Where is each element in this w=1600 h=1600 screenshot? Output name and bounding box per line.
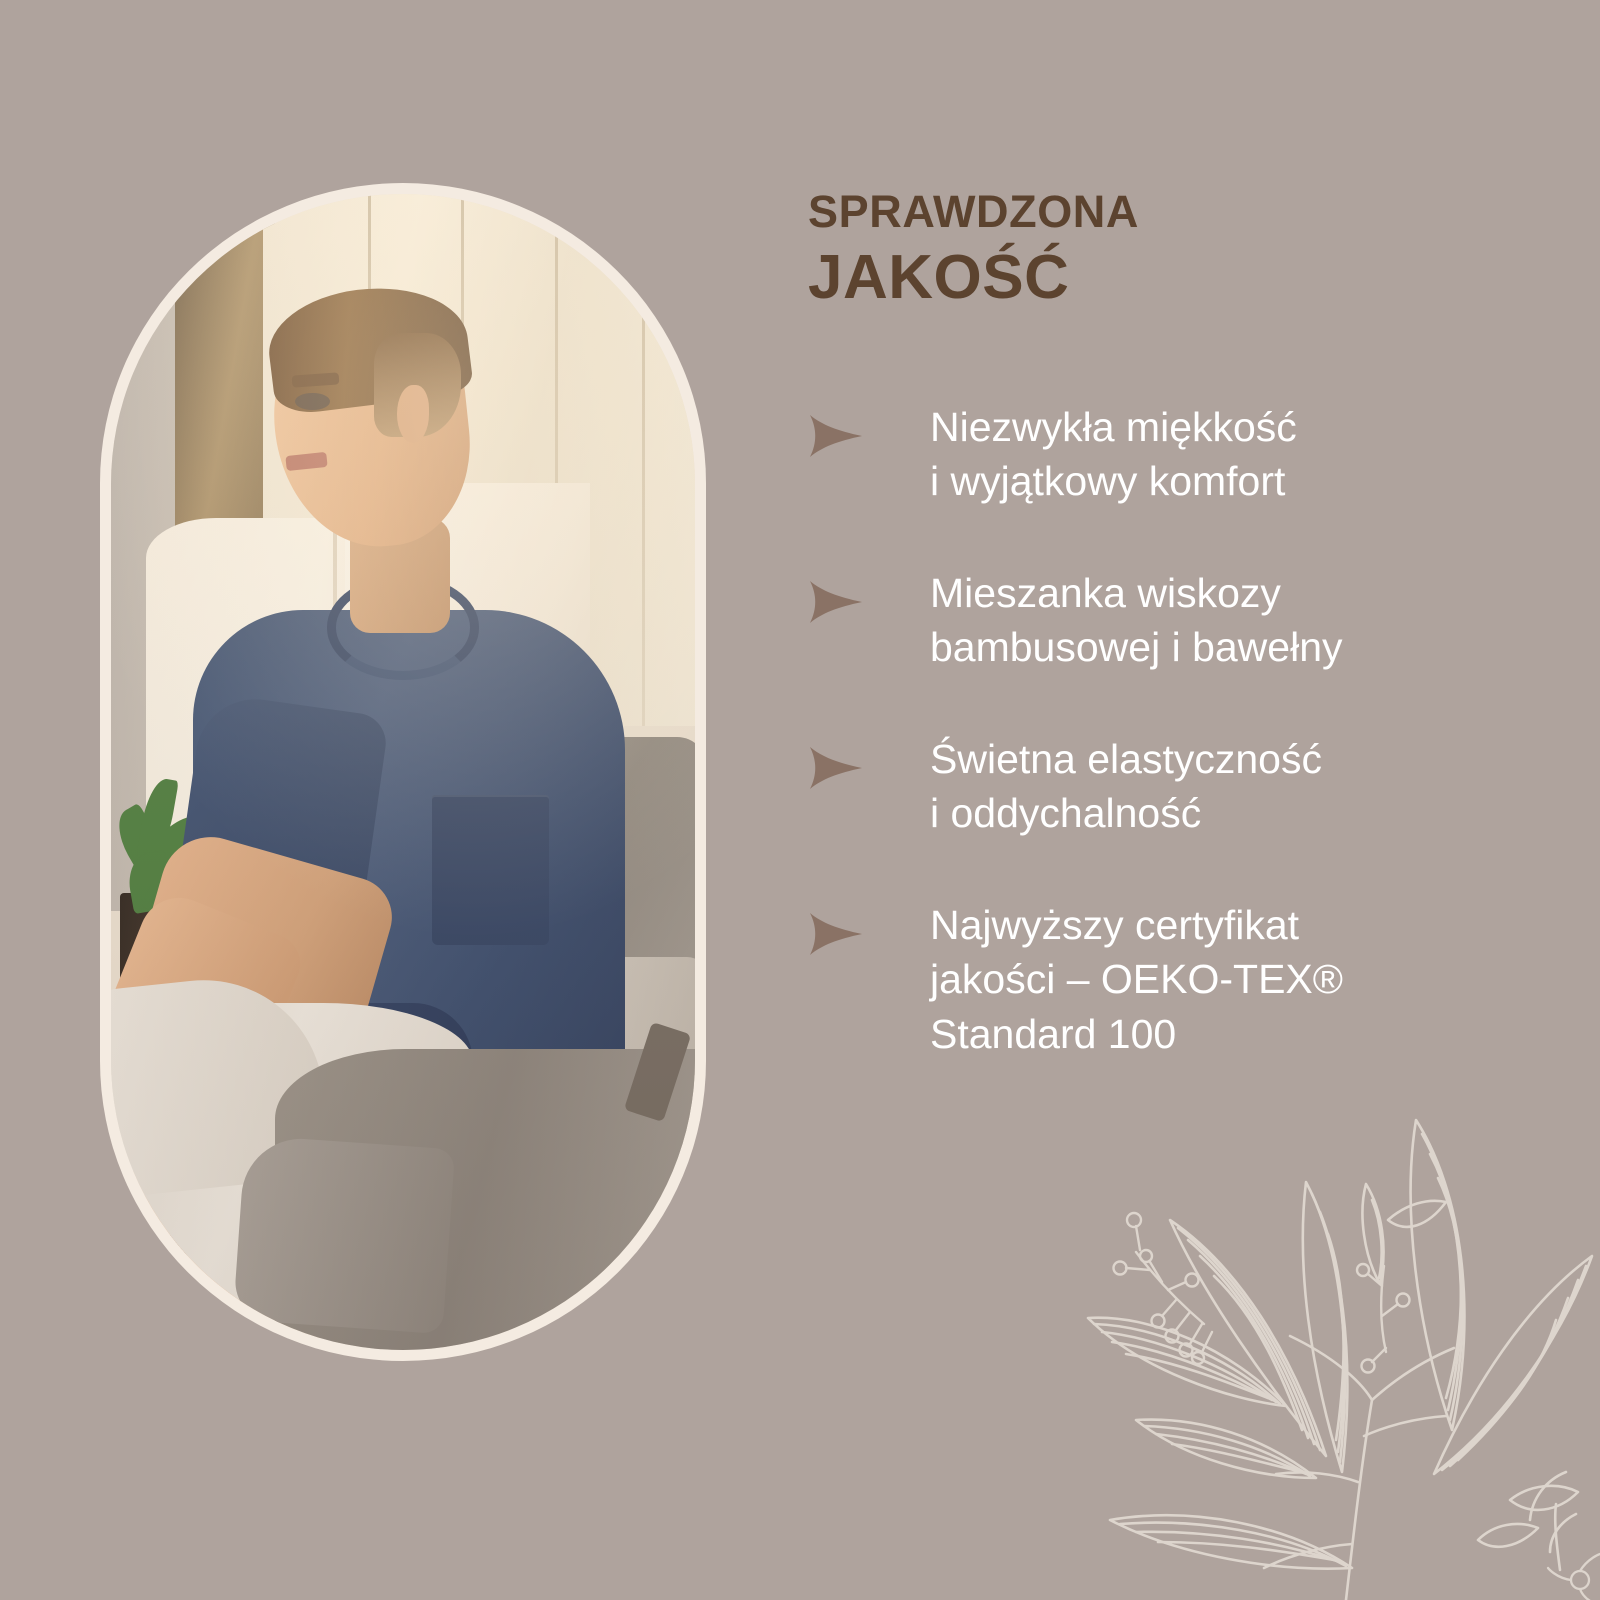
bud-sprig [1114,1213,1213,1364]
leaf-group-left-lower [1136,1420,1316,1478]
list-item: Najwyższy certyfikat jakości – OEKO-TEX®… [808,898,1508,1062]
list-item-label: Świetna elastyczność i oddychalność [930,732,1322,841]
floret-bottom-right [1548,1554,1600,1600]
list-item-label: Niezwykła miękkość i wyjątkowy komfort [930,400,1297,509]
small-leaf-pair-center [1362,1184,1446,1284]
lifestyle-photo [111,194,695,1350]
leaf-group-tall-right [1411,1120,1465,1430]
photo-color-grade-overlay [111,194,695,1350]
triangle-arrow-icon [808,566,930,625]
triangle-arrow-icon [808,898,930,957]
triangle-arrow-icon [808,400,930,459]
leaf-group-right-large [1434,1256,1592,1474]
list-item: Mieszanka wiskozy bambusowej i bawełny [808,566,1508,675]
page-title-line-2: JAKOŚĆ [808,244,1508,312]
botanical-leaf-line-art-decoration [1080,1100,1600,1600]
bud-sprig-center [1357,1264,1410,1373]
leaf-group-left [1088,1318,1286,1406]
stems [1264,1336,1560,1600]
list-item: Świetna elastyczność i oddychalność [808,732,1508,841]
list-item-label: Najwyższy certyfikat jakości – OEKO-TEX®… [930,898,1343,1062]
leaf-group-tall-center [1303,1182,1348,1472]
leaf-group-bottom-left [1110,1515,1352,1568]
content-column: SPRAWDZONA JAKOŚĆ Niezwykła miękkość i w… [808,188,1508,1061]
list-item: Niezwykła miękkość i wyjątkowy komfort [808,400,1508,509]
triangle-arrow-icon [808,732,930,791]
list-item-label: Mieszanka wiskozy bambusowej i bawełny [930,566,1343,675]
benefit-list: Niezwykła miękkość i wyjątkowy komfort M… [808,400,1508,1062]
leaf-small-bud-cluster-right [1478,1472,1578,1552]
lifestyle-photo-oval-frame [100,183,706,1361]
leaf-group-center-large [1170,1220,1326,1456]
page-title-line-1: SPRAWDZONA [808,188,1508,237]
